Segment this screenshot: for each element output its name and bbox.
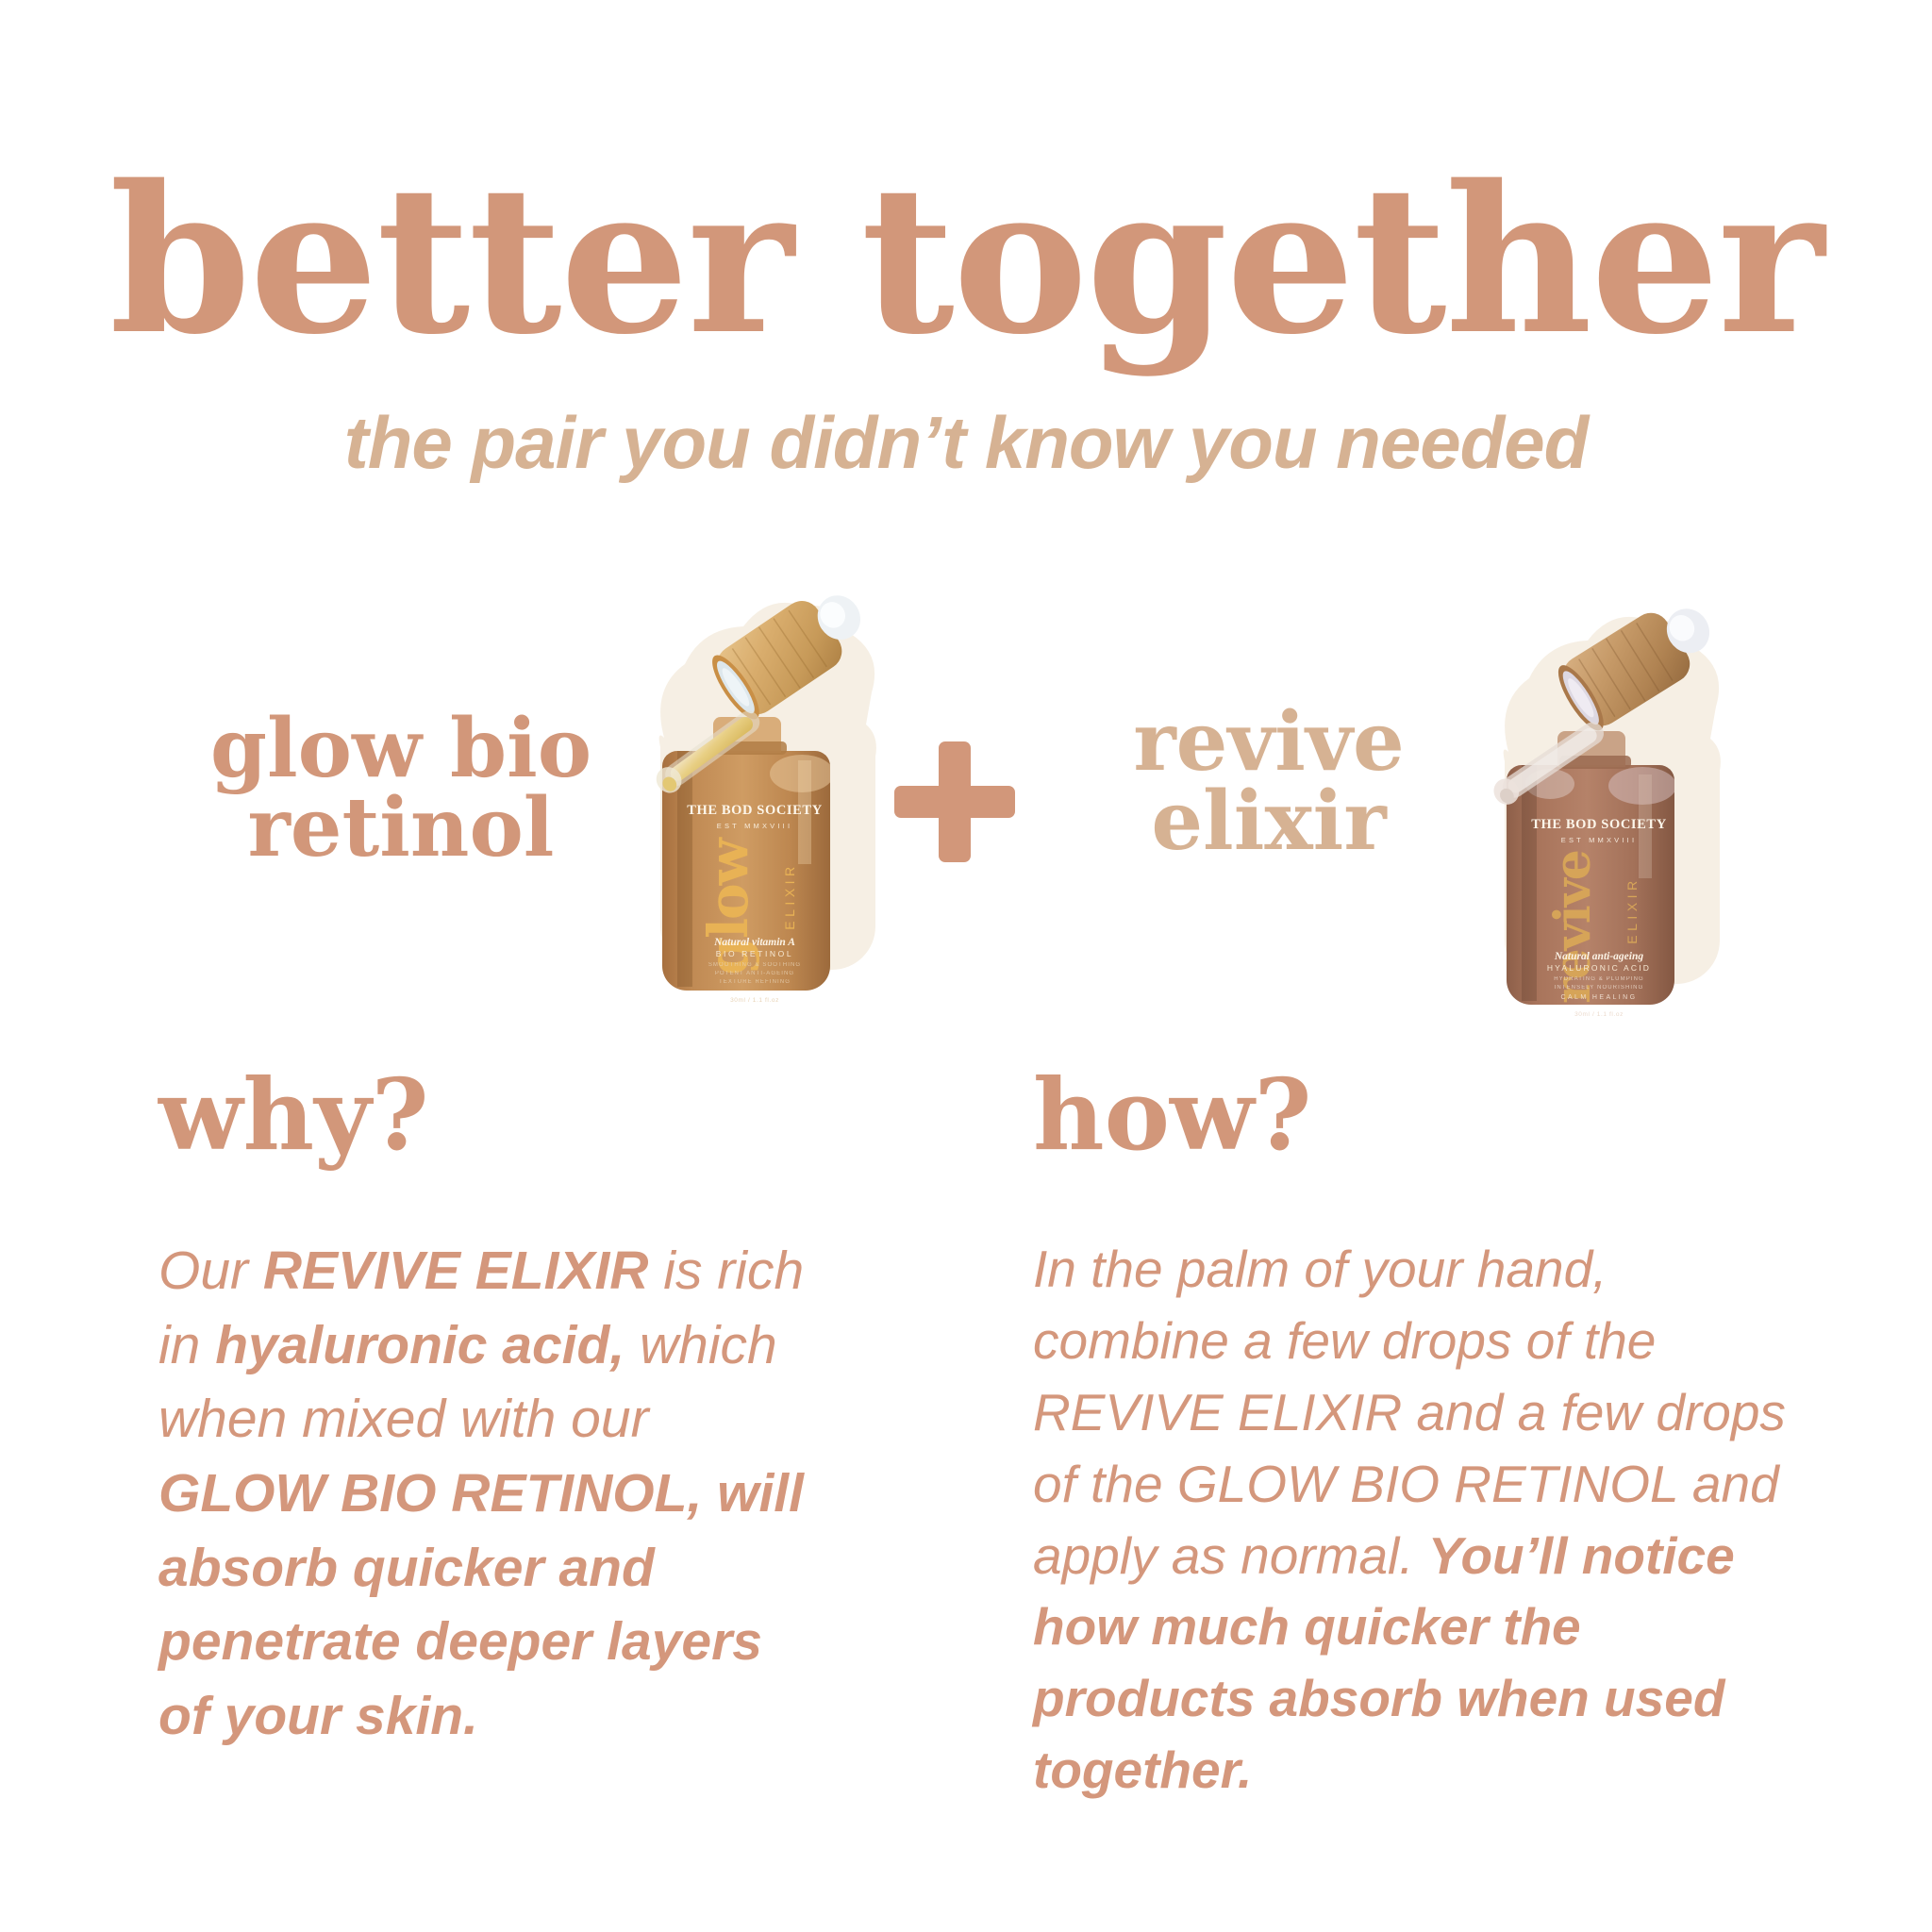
svg-text:THE BOD SOCIETY: THE BOD SOCIETY — [1531, 817, 1667, 832]
product-image-revive-elixir: THE BOD SOCIETY EST MMXVIII revive ELIXI… — [1467, 590, 1740, 1033]
svg-text:HYALURONIC ACID: HYALURONIC ACID — [1547, 963, 1651, 973]
section-why: why? Our REVIVE ELIXIR is rich in hyalur… — [158, 1066, 819, 1754]
plus-icon-vertical-bar — [939, 741, 971, 862]
svg-text:BIO RETINOL: BIO RETINOL — [716, 949, 793, 958]
page-subtitle: the pair you didn’t know you needed — [0, 406, 1932, 479]
why-bold-2: hyaluronic acid, — [215, 1315, 625, 1375]
svg-text:THE BOD SOCIETY: THE BOD SOCIETY — [687, 803, 823, 818]
svg-text:ELIXIR: ELIXIR — [782, 862, 797, 929]
svg-text:SMOOTHING & SOOTHING: SMOOTHING & SOOTHING — [708, 962, 801, 968]
section-how-body: In the palm of your hand, combine a few … — [1033, 1234, 1788, 1807]
svg-text:EST MMXVIII: EST MMXVIII — [1561, 836, 1638, 844]
bottle-descriptors: Natural anti-ageing HYALURONIC ACID HYDR… — [1547, 951, 1651, 1018]
section-how-title: how? — [1033, 1066, 1788, 1164]
svg-text:30ml / 1.1 fl.oz: 30ml / 1.1 fl.oz — [1574, 1011, 1624, 1018]
section-why-title: why? — [158, 1066, 819, 1164]
svg-text:TEXTURE REFINING: TEXTURE REFINING — [719, 979, 791, 985]
section-how: how? In the palm of your hand, combine a… — [1033, 1066, 1788, 1807]
svg-text:HYDRATING & PLUMPING: HYDRATING & PLUMPING — [1554, 976, 1644, 982]
svg-text:INTENSELY NOURISHING: INTENSELY NOURISHING — [1555, 985, 1644, 991]
why-bold-1: REVIVE ELIXIR — [263, 1241, 649, 1301]
page-title: better together — [0, 158, 1932, 361]
product-image-glow-bio-retinol: THE BOD SOCIETY EST MMXVIII glow ELIXIR … — [623, 575, 896, 1019]
why-text-1: Our — [158, 1241, 263, 1301]
svg-text:EST MMXVIII: EST MMXVIII — [717, 822, 793, 830]
svg-text:Natural vitamin A: Natural vitamin A — [713, 937, 795, 948]
svg-text:ELIXIR: ELIXIR — [1624, 876, 1640, 943]
plus-icon — [894, 741, 1015, 862]
product-name-revive-elixir: revive elixir — [1014, 703, 1524, 862]
why-bold-3: GLOW BIO RETINOL, will absorb quicker an… — [158, 1463, 804, 1746]
svg-text:30ml / 1.1 fl.oz: 30ml / 1.1 fl.oz — [730, 997, 779, 1004]
svg-text:CALM HEALING: CALM HEALING — [1561, 994, 1638, 1001]
svg-text:POTENT ANTI-AGEING: POTENT ANTI-AGEING — [715, 971, 794, 976]
section-why-body: Our REVIVE ELIXIR is rich in hyaluronic … — [158, 1234, 819, 1754]
bottle-descriptors: Natural vitamin A BIO RETINOL SMOOTHING … — [708, 937, 801, 1004]
svg-text:Natural anti-ageing: Natural anti-ageing — [1554, 951, 1644, 962]
product-name-glow-bio-retinol: glow bio retinol — [132, 709, 670, 869]
